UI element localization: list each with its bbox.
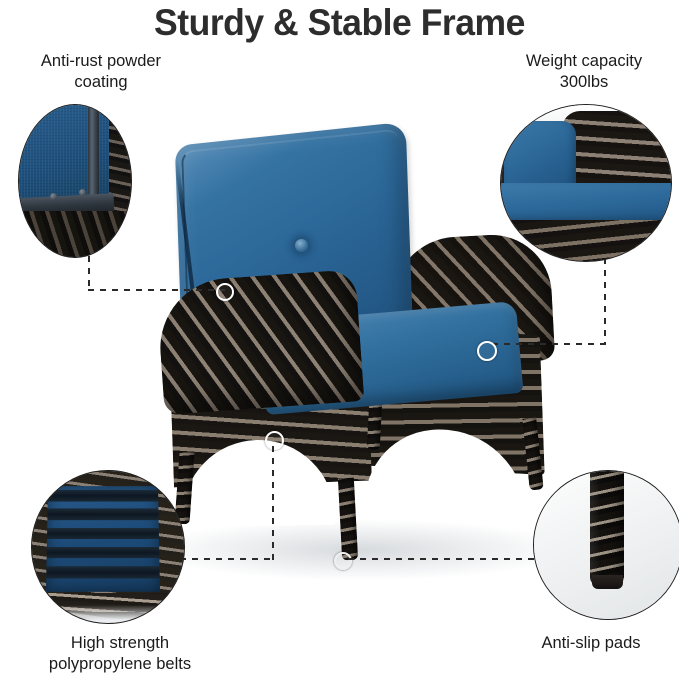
sofa-seat-cushion [500, 183, 672, 225]
inset-floor-sheen [32, 605, 184, 624]
support-belt [47, 546, 160, 558]
marker-seat-belts [265, 431, 284, 450]
sofa-base-wicker [500, 220, 672, 262]
caption-anti-rust-powder-coating: Anti-rust powder coating [3, 51, 199, 92]
caption-weight-capacity: Weight capacity 300lbs [489, 51, 679, 92]
connector-horizontal-top-left [88, 289, 225, 291]
chair-leg-closeup [590, 470, 624, 586]
floor-shadow [150, 520, 570, 580]
infographic-canvas: Sturdy & Stable Frame [0, 0, 679, 681]
chair-leg-back-left [367, 400, 383, 451]
inset-weight-capacity [500, 104, 672, 262]
inset-photo-belts [32, 471, 184, 623]
inset-anti-rust-powder-coating [18, 104, 132, 258]
connector-horizontal-bottom-right [348, 558, 534, 560]
inset-photo-weight-capacity [501, 105, 671, 261]
marker-seat-capacity [477, 341, 497, 361]
page-title: Sturdy & Stable Frame [14, 2, 666, 44]
anti-slip-pad [592, 575, 623, 590]
connector-vertical-top-right [604, 258, 606, 344]
marker-frame-joint [216, 283, 234, 301]
caption-polypropylene-belts: High strength polypropylene belts [8, 633, 232, 674]
chair-leg-front-right [338, 478, 358, 561]
connector-vertical-top-left [88, 256, 90, 290]
support-belt [46, 566, 160, 578]
marker-leg-pad [334, 552, 352, 570]
wicker-bottom-detail [18, 211, 132, 258]
support-belt [48, 508, 160, 519]
support-belt [47, 527, 160, 539]
seat-belt-panel [46, 486, 161, 592]
support-belt [48, 490, 159, 501]
connector-horizontal-top-right [492, 343, 606, 345]
inset-polypropylene-belts [31, 470, 185, 624]
cushion-tuft-button [295, 239, 308, 252]
caption-anti-slip-pads: Anti-slip pads [505, 633, 677, 654]
connector-vertical-bottom-left [272, 446, 274, 560]
inset-anti-slip-pads [533, 470, 679, 620]
inset-photo-anti-rust [19, 105, 131, 257]
sofa-back-wicker [562, 111, 672, 192]
inset-photo-anti-slip-pad [534, 471, 679, 619]
